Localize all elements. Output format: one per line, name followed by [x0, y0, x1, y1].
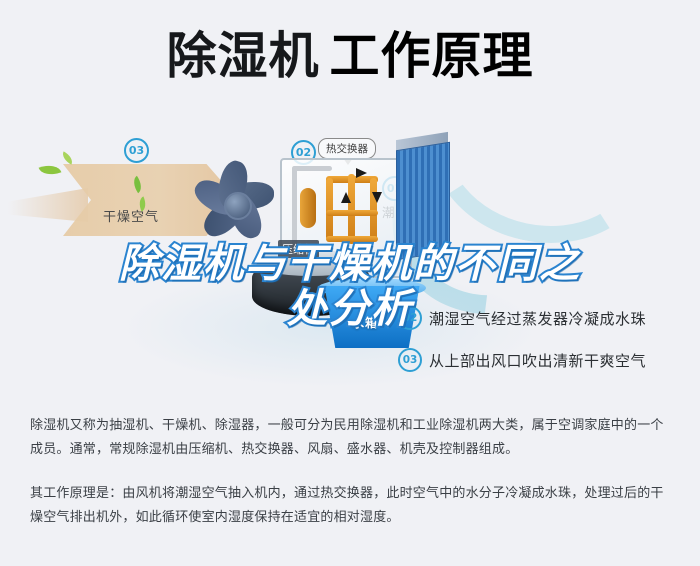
- water-tank-label: 水箱: [352, 314, 378, 331]
- dry-air-arrow-tail: [8, 188, 88, 222]
- bullet-text: 潮湿空气经过蒸发器冷凝成水珠: [429, 308, 646, 329]
- process-bullet-list: 02 潮湿空气经过蒸发器冷凝成水珠 03 从上部出风口吹出清新干爽空气: [398, 306, 698, 390]
- copper-coil: [326, 210, 378, 216]
- heat-exchanger-callout: 热交换器: [318, 138, 376, 159]
- leaf-icon: [60, 151, 75, 164]
- copper-coil: [326, 236, 378, 242]
- refrigerant-cylinder: [300, 188, 316, 228]
- article-paragraph-2: 其工作原理是：由风机将潮湿空气抽入机内，通过热交换器，此时空气中的水分子冷凝成水…: [30, 482, 675, 530]
- flow-arrow-up-icon: [341, 192, 351, 203]
- page-header: 除湿机工作原理: [0, 0, 700, 120]
- page-title-part1: 除湿机: [167, 27, 320, 85]
- page-title-part2: 工作原理: [330, 27, 534, 85]
- fan-hub: [224, 192, 252, 220]
- article-paragraph-1: 除湿机又称为抽湿机、干燥机、除湿器，一般可分为民用除湿机和工业除湿机两大类，属于…: [30, 414, 675, 462]
- compressor-label: 压缩机: [278, 240, 319, 258]
- bullet-text: 从上部出风口吹出清新干爽空气: [429, 350, 646, 371]
- process-bullet-item: 02 潮湿空气经过蒸发器冷凝成水珠: [398, 306, 698, 330]
- evaporator-block: [396, 142, 450, 261]
- step-badge-03: 03: [124, 138, 149, 163]
- intake-pipe-top: [292, 166, 332, 171]
- diagram-illustration: 干燥空气 03 02 01 热交换器 潮湿空气: [0, 118, 700, 408]
- fan-icon: [188, 156, 280, 248]
- dry-air-label: 干燥空气: [103, 206, 159, 225]
- flow-arrow-right-icon: [356, 168, 367, 178]
- bullet-badge: 02: [398, 306, 422, 330]
- page-root: 除湿机工作原理 干燥空气 03 02 01 热交换器 潮湿空气: [0, 0, 700, 566]
- bullet-badge: 03: [398, 348, 422, 372]
- copper-coil: [326, 178, 333, 240]
- copper-coil: [348, 174, 355, 244]
- process-bullet-item: 03 从上部出风口吹出清新干爽空气: [398, 348, 698, 372]
- article-body: 除湿机又称为抽湿机、干燥机、除湿器，一般可分为民用除湿机和工业除湿机两大类，属于…: [30, 414, 675, 530]
- flow-arrow-down-icon: [372, 192, 382, 203]
- page-title: 除湿机工作原理: [0, 26, 700, 86]
- leaf-icon: [39, 161, 62, 179]
